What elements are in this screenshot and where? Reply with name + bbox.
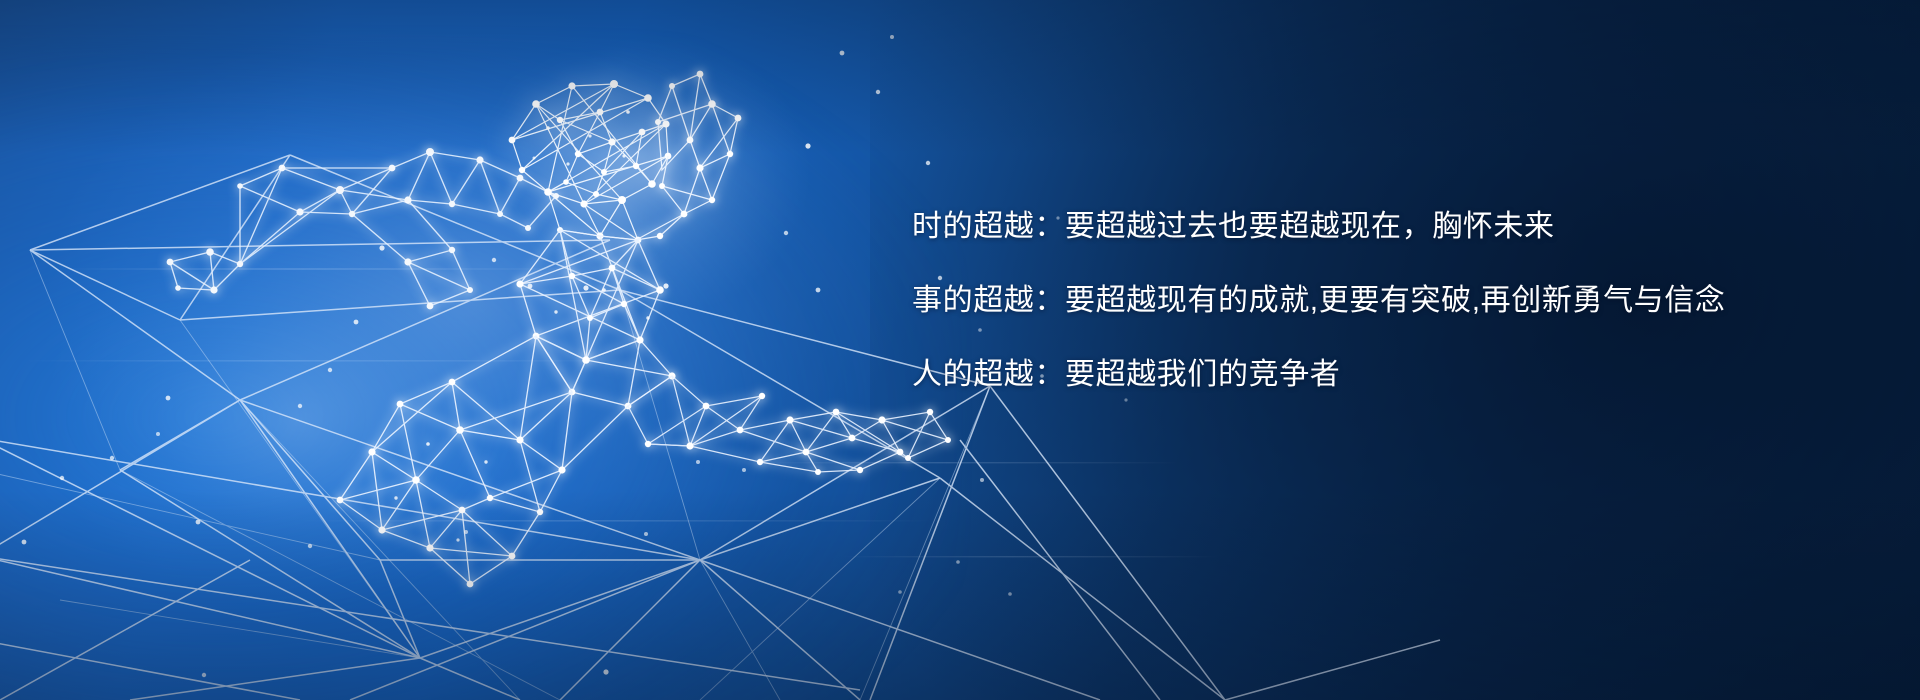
slogan-text-block: 时的超越：要超越过去也要超越现在，胸怀未来 事的超越：要超越现有的成就,更要有突… (912, 190, 1812, 412)
slogan-line-time: 时的超越：要超越过去也要超越现在，胸怀未来 (912, 190, 1812, 264)
hero-banner: 时的超越：要超越过去也要超越现在，胸怀未来 事的超越：要超越现有的成就,更要有突… (0, 0, 1920, 700)
slogan-line-people: 人的超越：要超越我们的竞争者 (912, 338, 1812, 412)
slogan-line-achievement: 事的超越：要超越现有的成就,更要有突破,再创新勇气与信念 (912, 264, 1812, 338)
